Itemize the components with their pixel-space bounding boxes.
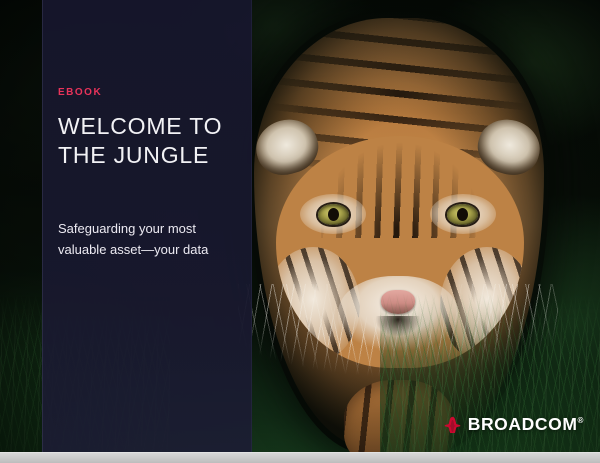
tiger-pupil-right	[457, 208, 468, 221]
eyebrow-label: EBOOK	[58, 88, 102, 98]
tiger-pupil-left	[328, 208, 339, 221]
broadcom-wordmark-text: BROADCOM	[468, 414, 578, 434]
page-title: WELCOME TO THE JUNGLE	[58, 112, 222, 171]
grass-foreground-right	[380, 293, 600, 463]
title-panel: EBOOK WELCOME TO THE JUNGLE Safeguarding…	[42, 0, 252, 452]
broadcom-wordmark: BROADCOM®	[468, 416, 584, 434]
title-panel-content: EBOOK WELCOME TO THE JUNGLE Safeguarding…	[58, 0, 241, 452]
subtitle: Safeguarding your most valuable asset—yo…	[58, 218, 208, 260]
tiger-eye-left	[318, 204, 349, 225]
tiger-eye-right	[447, 204, 478, 225]
ebook-cover: EBOOK WELCOME TO THE JUNGLE Safeguarding…	[0, 0, 600, 463]
brand-lockup: BROADCOM®	[444, 416, 584, 434]
trademark-symbol: ®	[578, 416, 585, 425]
page-bottom-edge	[0, 452, 600, 463]
broadcom-pulse-icon	[444, 416, 461, 433]
